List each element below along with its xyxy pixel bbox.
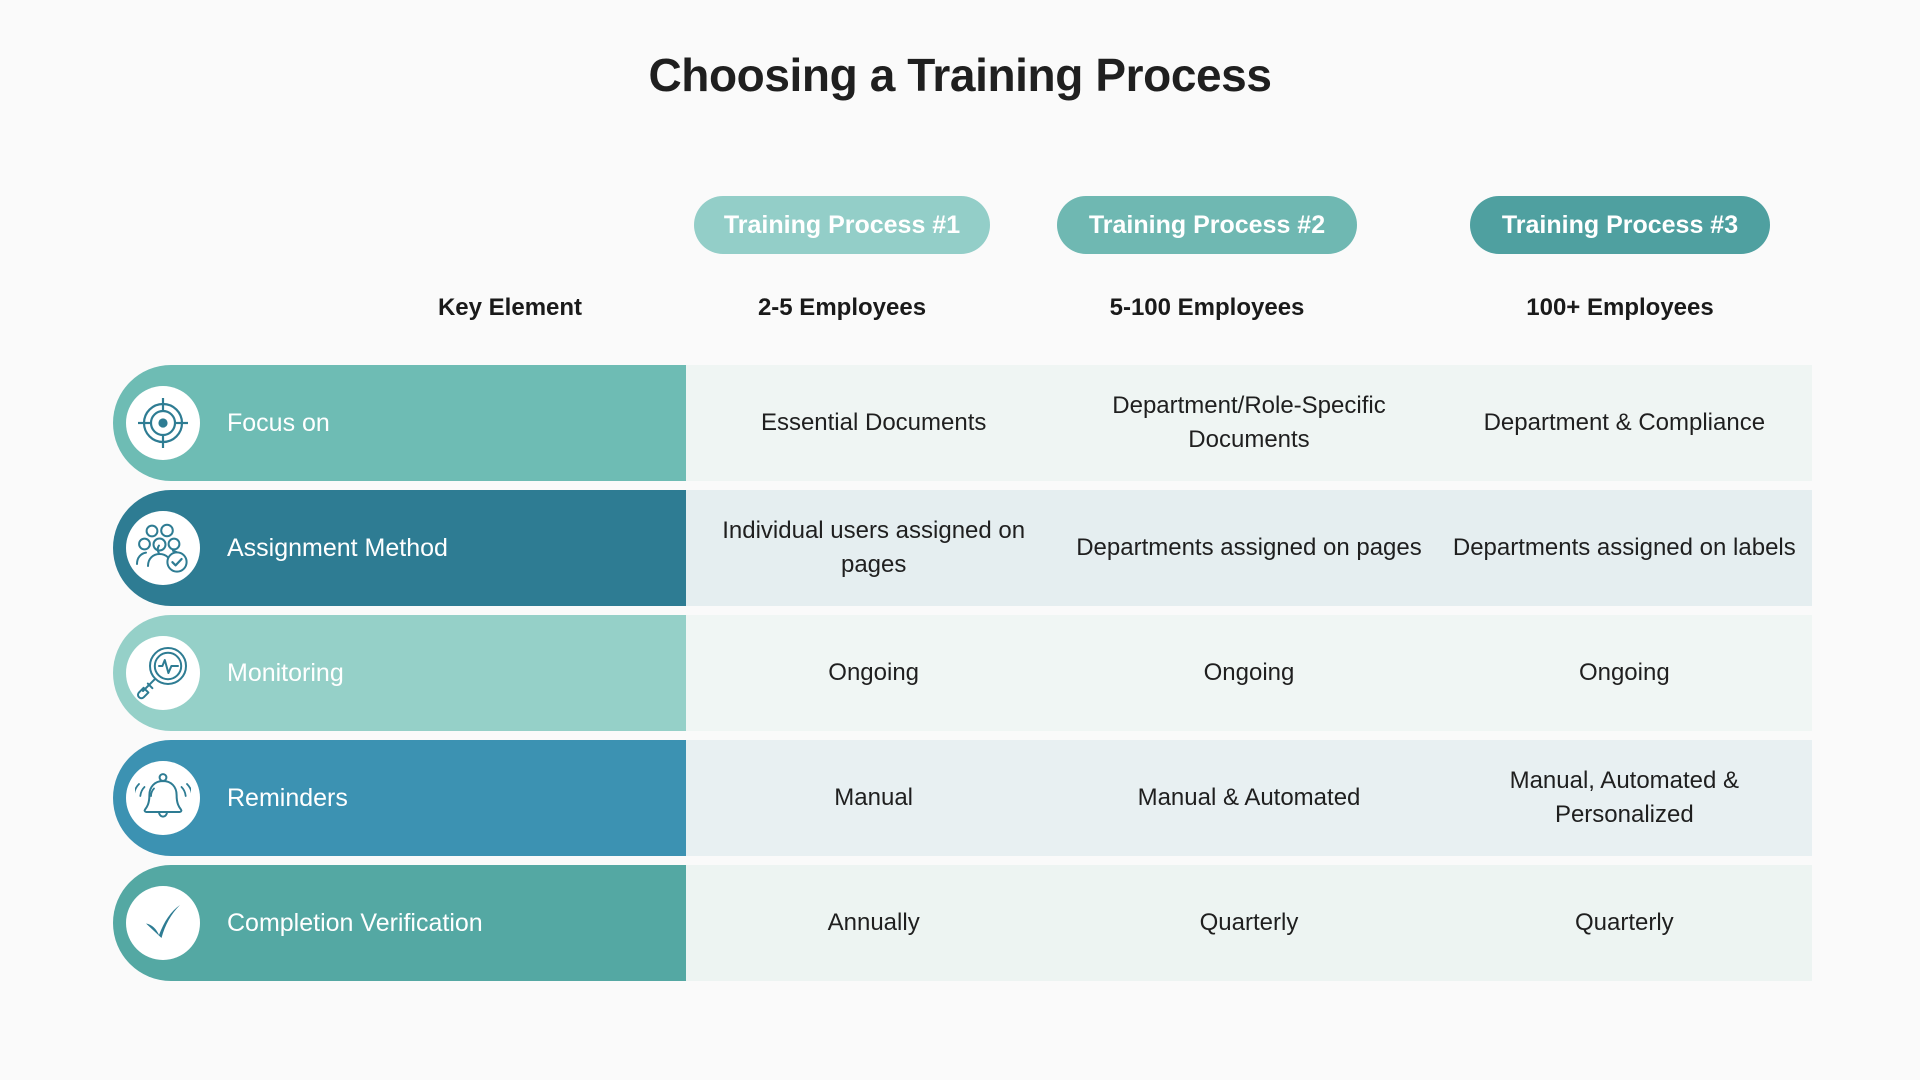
table-cell: Departments assigned on pages [1061, 490, 1436, 606]
table-cell: Ongoing [1061, 615, 1436, 731]
row-cells: AnnuallyQuarterlyQuarterly [686, 865, 1812, 981]
row-label-text: Completion Verification [227, 909, 483, 938]
column-subheader-2: 5-100 Employees [1057, 294, 1357, 322]
ringing-bell-icon [126, 761, 200, 835]
table-row: Focus onEssential DocumentsDepartment/Ro… [0, 365, 1920, 481]
column-subheader-3: 100+ Employees [1470, 294, 1770, 322]
checkmark-icon [126, 886, 200, 960]
row-label-band: Focus on [113, 365, 686, 481]
magnifier-pulse-icon [126, 636, 200, 710]
row-label-band: Assignment Method [113, 490, 686, 606]
table-row: Assignment MethodIndividual users assign… [0, 490, 1920, 606]
people-group-check-icon [126, 511, 200, 585]
row-label-text: Assignment Method [227, 534, 448, 563]
row-cells: Essential DocumentsDepartment/Role-Speci… [686, 365, 1812, 481]
comparison-table: Focus onEssential DocumentsDepartment/Ro… [0, 365, 1920, 990]
row-cells: OngoingOngoingOngoing [686, 615, 1812, 731]
row-label-text: Monitoring [227, 659, 344, 688]
table-cell: Quarterly [1437, 865, 1812, 981]
table-cell: Manual [686, 740, 1061, 856]
row-label-band: Completion Verification [113, 865, 686, 981]
column-header-pill-3: Training Process #3 [1470, 196, 1770, 254]
table-cell: Ongoing [1437, 615, 1812, 731]
table-cell: Department & Compliance [1437, 365, 1812, 481]
row-label-text: Focus on [227, 409, 330, 438]
column-subheader-1: 2-5 Employees [694, 294, 990, 322]
table-cell: Departments assigned on labels [1437, 490, 1812, 606]
table-row: MonitoringOngoingOngoingOngoing [0, 615, 1920, 731]
table-cell: Quarterly [1061, 865, 1436, 981]
pill-label: Training Process #1 [724, 211, 960, 240]
row-label-band: Reminders [113, 740, 686, 856]
target-icon [126, 386, 200, 460]
page-title: Choosing a Training Process [0, 48, 1920, 102]
table-cell: Essential Documents [686, 365, 1061, 481]
row-label-text: Reminders [227, 784, 348, 813]
row-label-band: Monitoring [113, 615, 686, 731]
pill-label: Training Process #2 [1089, 211, 1325, 240]
infographic-page: Choosing a Training Process Training Pro… [0, 0, 1920, 1080]
table-cell: Ongoing [686, 615, 1061, 731]
pill-label: Training Process #3 [1502, 211, 1738, 240]
row-cells: Individual users assigned on pagesDepart… [686, 490, 1812, 606]
table-row: RemindersManualManual & AutomatedManual,… [0, 740, 1920, 856]
table-row: Completion VerificationAnnuallyQuarterly… [0, 865, 1920, 981]
table-cell: Individual users assigned on pages [686, 490, 1061, 606]
column-header-pill-2: Training Process #2 [1057, 196, 1357, 254]
table-cell: Manual, Automated & Personalized [1437, 740, 1812, 856]
column-header-pill-1: Training Process #1 [694, 196, 990, 254]
table-cell: Annually [686, 865, 1061, 981]
table-cell: Department/Role-Specific Documents [1061, 365, 1436, 481]
row-cells: ManualManual & AutomatedManual, Automate… [686, 740, 1812, 856]
table-cell: Manual & Automated [1061, 740, 1436, 856]
